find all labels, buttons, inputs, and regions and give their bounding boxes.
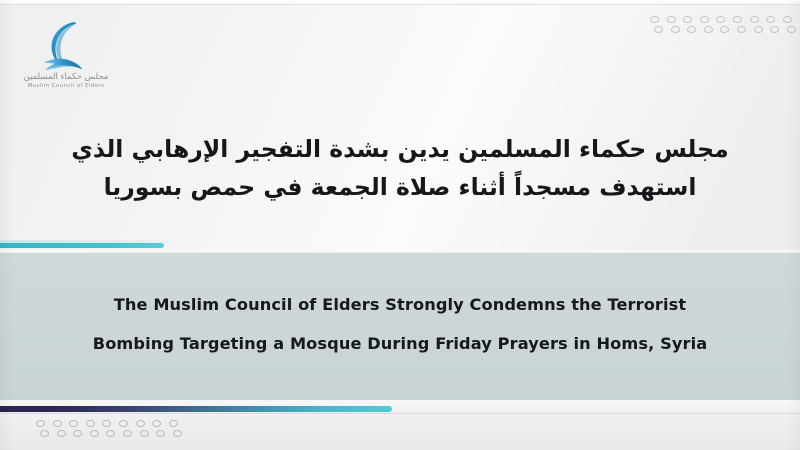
headline-english-line-2: Bombing Targeting a Mosque During Friday…	[60, 324, 740, 363]
dot	[770, 26, 779, 33]
dot	[700, 16, 709, 23]
headline-arabic: مجلس حكماء المسلمين يدين بشدة التفجير ال…	[60, 130, 740, 206]
dot-row	[36, 420, 182, 427]
dot	[73, 430, 82, 437]
dot	[152, 420, 161, 427]
statement-card: مجلس حكماء المسلمين Muslim Council of El…	[0, 0, 800, 450]
dot	[687, 26, 696, 33]
crescent-moon-swoosh-icon	[18, 20, 114, 72]
dot	[106, 430, 115, 437]
logo-name-english: Muslim Council of Elders	[18, 82, 114, 90]
dot	[750, 16, 759, 23]
dot	[140, 430, 149, 437]
dot	[53, 420, 62, 427]
dot	[783, 16, 792, 23]
dot-row	[654, 26, 796, 33]
dot-pattern-top-right	[650, 16, 796, 33]
dot-row	[40, 430, 182, 437]
dot	[169, 420, 178, 427]
dot	[683, 16, 692, 23]
dot	[667, 16, 676, 23]
headline-english-line-1: The Muslim Council of Elders Strongly Co…	[60, 285, 740, 324]
headline-english: The Muslim Council of Elders Strongly Co…	[60, 285, 740, 363]
dot	[754, 26, 763, 33]
dot	[650, 16, 659, 23]
dot	[136, 420, 145, 427]
teal-accent-bar	[0, 243, 164, 248]
logo-name-arabic: مجلس حكماء المسلمين	[18, 72, 114, 82]
dot	[90, 430, 99, 437]
dot	[766, 16, 775, 23]
dot-row	[650, 16, 796, 23]
dot	[716, 16, 725, 23]
dot	[123, 430, 132, 437]
top-hairline-divider	[0, 4, 800, 5]
dot	[720, 26, 729, 33]
dot	[671, 26, 680, 33]
dot	[654, 26, 663, 33]
dot	[704, 26, 713, 33]
dot	[156, 430, 165, 437]
top-background-band	[0, 0, 800, 253]
headline-arabic-line-2: استهدف مسجداً أثناء صلاة الجمعة في حمص ب…	[60, 168, 740, 206]
headline-arabic-line-1: مجلس حكماء المسلمين يدين بشدة التفجير ال…	[60, 130, 740, 168]
dot	[173, 430, 182, 437]
dot	[119, 420, 128, 427]
gradient-accent-bar	[0, 406, 392, 412]
dot	[737, 26, 746, 33]
dot	[40, 430, 49, 437]
dot	[733, 16, 742, 23]
dot	[69, 420, 78, 427]
dot	[57, 430, 66, 437]
dot	[86, 420, 95, 427]
brand-logo: مجلس حكماء المسلمين Muslim Council of El…	[18, 20, 114, 96]
dot	[787, 26, 796, 33]
dot-pattern-bottom-left	[36, 420, 182, 437]
bottom-thin-divider-line	[0, 413, 800, 414]
dot	[102, 420, 111, 427]
dot	[36, 420, 45, 427]
